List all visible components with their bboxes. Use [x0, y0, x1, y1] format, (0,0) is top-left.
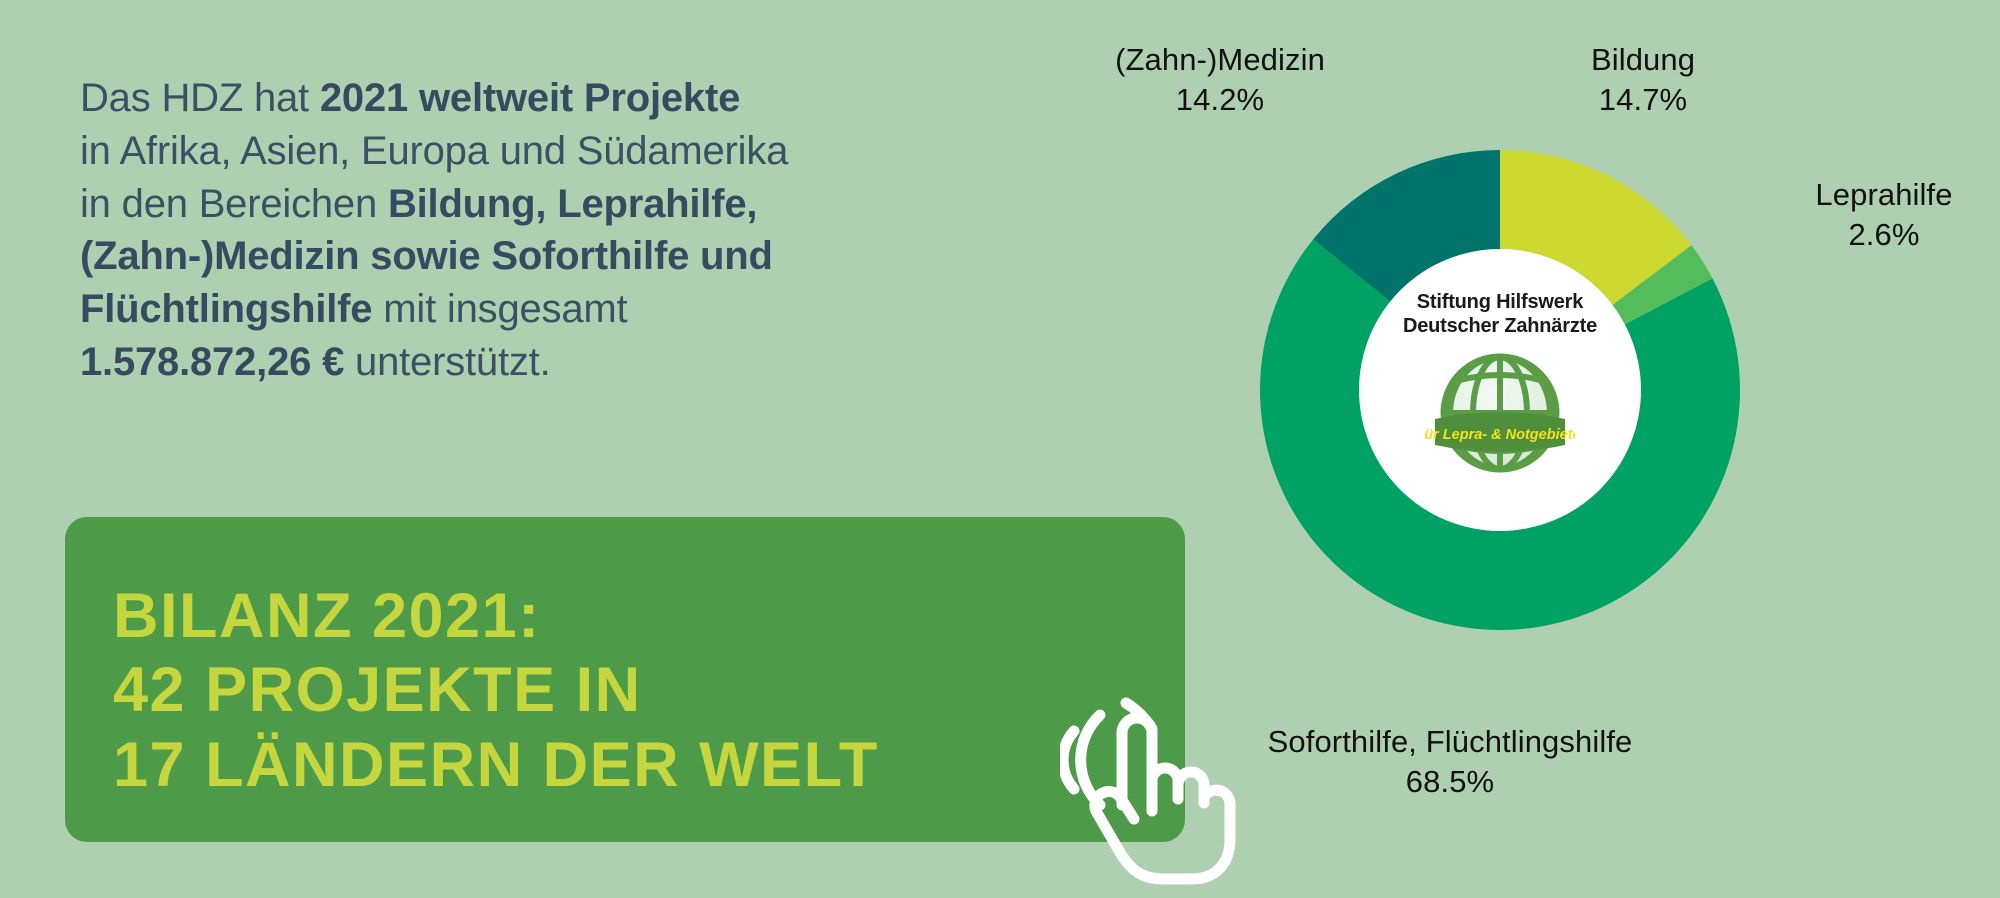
chart-label-bildung: Bildung 14.7% [1528, 40, 1758, 119]
intro-amount-bold: 1.578.872,26 € [80, 340, 344, 384]
intro-line-2: in Afrika, Asien, Europa und Südamerika [80, 129, 788, 173]
intro-line-1-bold: 2021 weltweit Projekte [320, 76, 740, 120]
donut-chart [1180, 70, 1820, 710]
intro-line-1-plain: Das HDZ hat [80, 76, 320, 120]
chart-label-soforthilfe-value: 68.5% [1180, 762, 1720, 802]
donut-svg [1180, 70, 1820, 710]
intro-line-3-bold: Bildung, Leprahilfe, [388, 182, 757, 226]
chart-label-bildung-value: 14.7% [1528, 80, 1758, 120]
donut-hole [1359, 249, 1641, 531]
chart-label-medizin-value: 14.2% [1080, 80, 1360, 120]
intro-line-5-bold: Flüchtlingshilfe [80, 287, 372, 331]
intro-line-3-plain: in den Bereichen [80, 182, 388, 226]
chart-label-medizin: (Zahn-)Medizin 14.2% [1080, 40, 1360, 119]
chart-label-soforthilfe-name: Soforthilfe, Flüchtlingshilfe [1268, 724, 1633, 759]
chart-label-bildung-name: Bildung [1591, 42, 1695, 77]
intro-paragraph: Das HDZ hat 2021 weltweit Projekte in Af… [80, 72, 1020, 389]
headline-text: BILANZ 2021: 42 PROJEKTE IN 17 LÄNDERN D… [113, 579, 879, 802]
chart-label-leprahilfe-name: Leprahilfe [1815, 177, 1952, 212]
intro-line-6-plain: unterstützt. [344, 340, 550, 384]
chart-label-medizin-name: (Zahn-)Medizin [1115, 42, 1325, 77]
chart-label-soforthilfe: Soforthilfe, Flüchtlingshilfe 68.5% [1180, 722, 1720, 801]
intro-line-4-bold: (Zahn-)Medizin sowie Soforthilfe und [80, 234, 773, 278]
intro-line-5-plain: mit insgesamt [372, 287, 627, 331]
chart-label-leprahilfe: Leprahilfe 2.6% [1768, 175, 2000, 254]
chart-label-leprahilfe-value: 2.6% [1768, 215, 2000, 255]
headline-banner: BILANZ 2021: 42 PROJEKTE IN 17 LÄNDERN D… [65, 517, 1185, 842]
